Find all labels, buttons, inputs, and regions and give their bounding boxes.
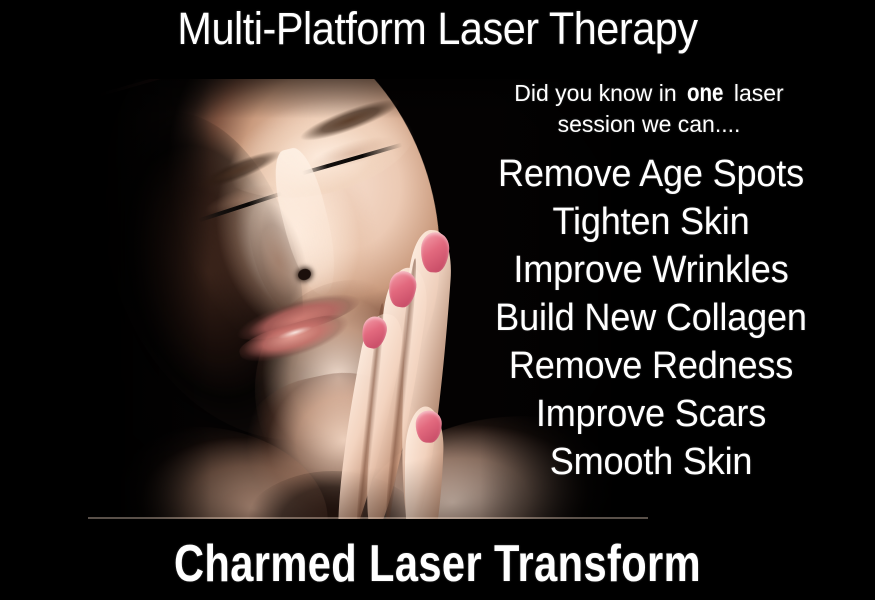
intro-line2: session we can....	[558, 111, 741, 137]
intro-text: Did you know in one laser session we can…	[430, 78, 868, 140]
brand-footer: Charmed Laser Transform	[88, 536, 788, 592]
intro-emphasis-one: one	[687, 78, 723, 109]
benefit-item: Tighten Skin	[441, 198, 861, 246]
intro-line1-before: Did you know in	[514, 80, 683, 106]
benefit-item: Smooth Skin	[441, 438, 861, 486]
benefit-item: Remove Redness	[441, 342, 861, 390]
intro-line1-after: laser	[727, 80, 783, 106]
benefit-item: Improve Wrinkles	[441, 246, 861, 294]
photo-bottom-edge	[88, 517, 648, 519]
page-title: Multi-Platform Laser Therapy	[35, 2, 840, 56]
benefit-item: Improve Scars	[441, 390, 861, 438]
benefits-list: Remove Age Spots Tighten Skin Improve Wr…	[430, 150, 872, 486]
benefit-item: Build New Collagen	[441, 294, 861, 342]
promo-poster: Multi-Platform Laser Therapy	[0, 0, 875, 600]
benefit-item: Remove Age Spots	[441, 150, 861, 198]
